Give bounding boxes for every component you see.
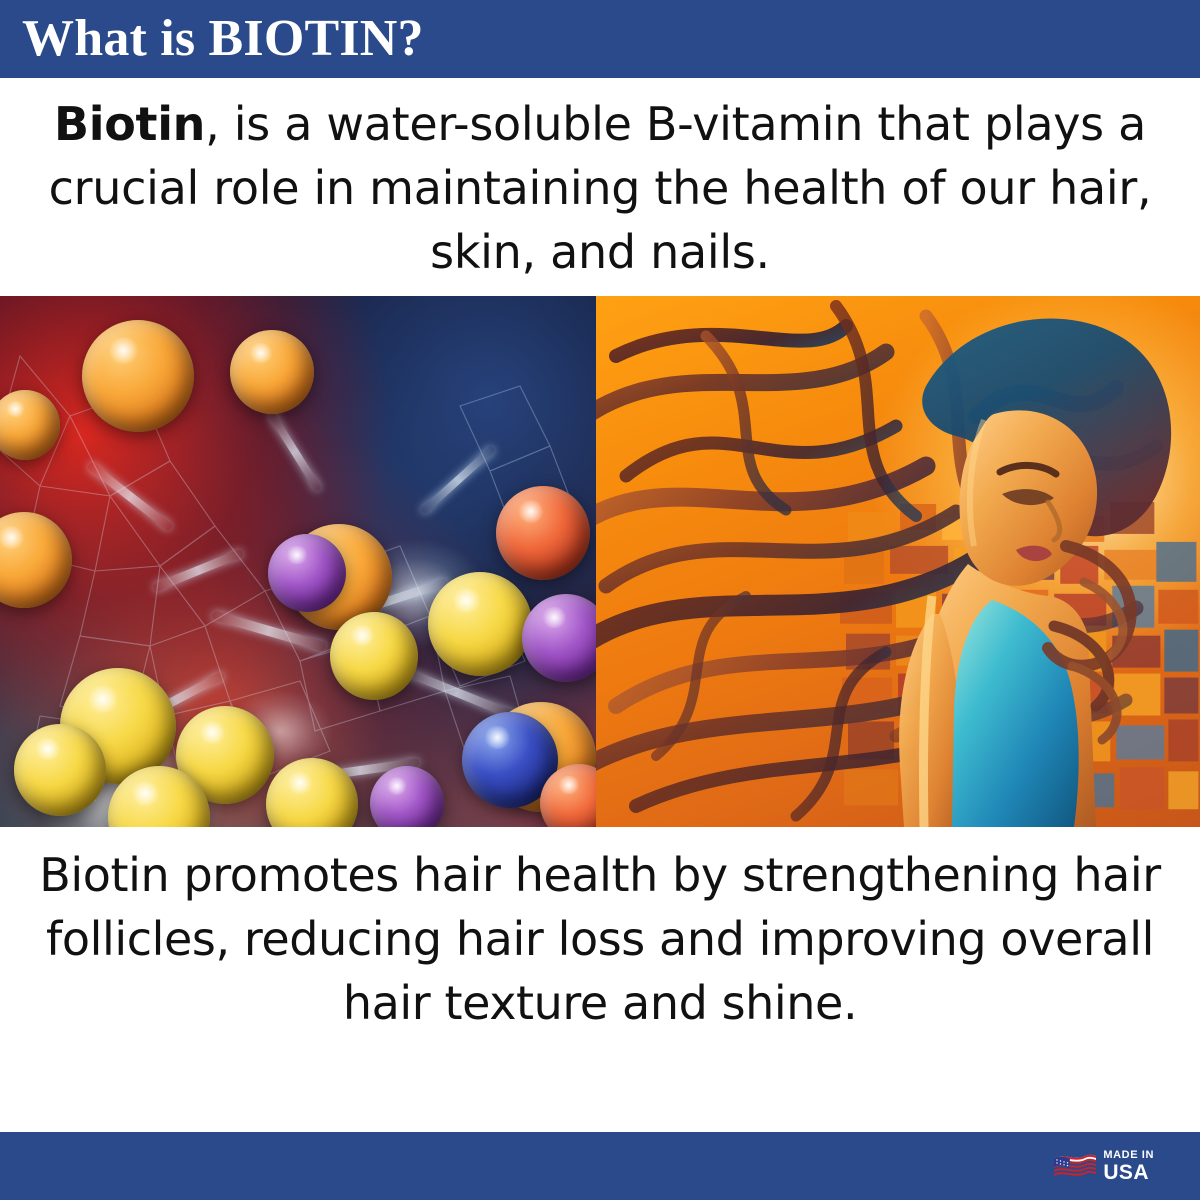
badge-line-usa: USA [1103, 1162, 1149, 1183]
image-strip [0, 296, 1200, 827]
molecule-atom [428, 572, 532, 676]
biotin-infographic-poster: What is BIOTIN? Biotin, is a water-solub… [0, 0, 1200, 1200]
outro-block: Biotin promotes hair health by strengthe… [0, 827, 1200, 1132]
molecule-atom [330, 612, 418, 700]
usa-flag-icon [1053, 1152, 1097, 1180]
footer-bar: MADE IN USA [0, 1132, 1200, 1200]
outro-paragraph: Biotin promotes hair health by strengthe… [32, 843, 1168, 1132]
intro-rest-text: , is a water-soluble B-vitamin that play… [49, 97, 1152, 279]
molecule-atom [496, 486, 590, 580]
made-in-usa-badge: MADE IN USA [1053, 1150, 1154, 1183]
header-bar: What is BIOTIN? [0, 0, 1200, 78]
molecule-atom [230, 330, 314, 414]
badge-line-made-in: MADE IN [1103, 1150, 1154, 1161]
molecule-atom [82, 320, 194, 432]
page-title: What is BIOTIN? [22, 13, 424, 65]
hair-portrait-image [596, 296, 1200, 827]
intro-block: Biotin, is a water-soluble B-vitamin tha… [0, 78, 1200, 284]
woman-figure [596, 296, 1200, 827]
made-in-usa-text: MADE IN USA [1103, 1150, 1154, 1183]
molecule-atom [14, 724, 106, 816]
intro-paragraph: Biotin, is a water-soluble B-vitamin tha… [26, 92, 1174, 284]
molecule-atom [268, 534, 346, 612]
molecule-image [0, 296, 596, 827]
intro-lead-word: Biotin [54, 97, 205, 151]
